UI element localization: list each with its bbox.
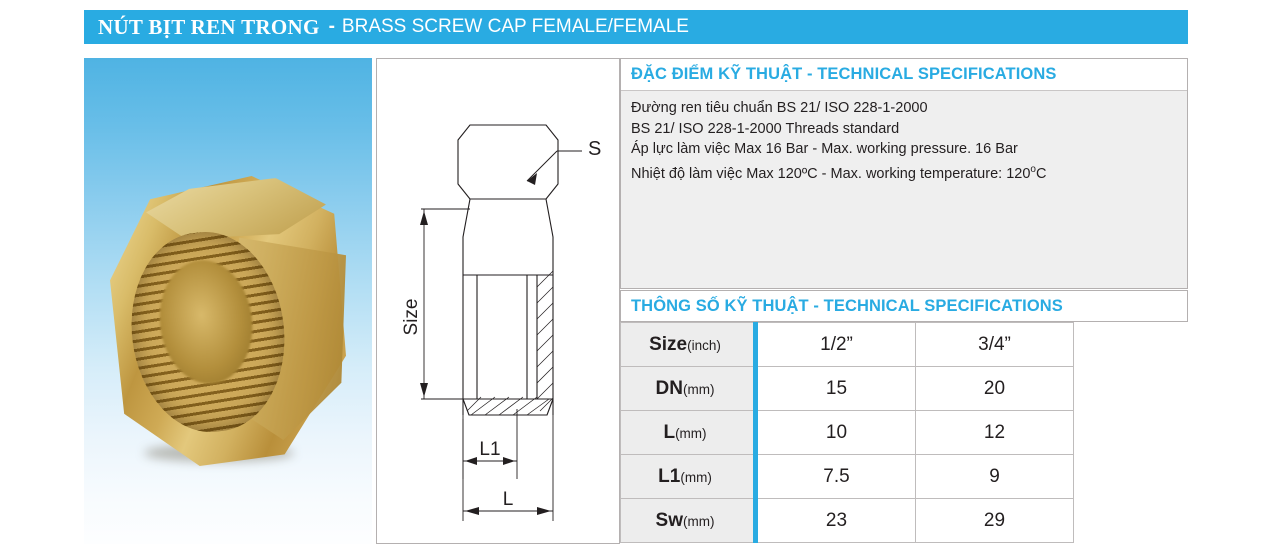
table-row: L1(mm) 7.5 9	[621, 455, 1074, 499]
specifications-table-body: Size(inch) 1/2” 3/4” DN(mm) 15 20 L(mm) …	[621, 323, 1074, 543]
spec-line-thread-standard-vi: Đường ren tiêu chuẩn BS 21/ ISO 228-1-20…	[631, 98, 1177, 119]
cell-dn-col1: 15	[756, 367, 916, 411]
cell-size-col1: 1/2”	[756, 323, 916, 367]
brass-screw-cap-image	[110, 176, 346, 466]
cell-l-col1: 10	[756, 411, 916, 455]
technical-drawing-svg: S Size L1	[377, 59, 619, 543]
row-label-size: Size(inch)	[621, 323, 756, 367]
section-hatch-base	[467, 397, 549, 415]
cell-size-col2: 3/4”	[916, 323, 1074, 367]
product-title-english: BRASS SCREW CAP FEMALE/FEMALE	[342, 16, 689, 38]
arrow-l-left	[465, 507, 479, 515]
table-row: Sw(mm) 23 29	[621, 499, 1074, 543]
row-label-sw: Sw(mm)	[621, 499, 756, 543]
row-label-text: Sw	[656, 510, 683, 531]
product-spec-sheet: NÚT BỊT REN TRONG - BRASS SCREW CAP FEMA…	[0, 0, 1280, 544]
technical-specifications-box: ĐẶC ĐIỂM KỸ THUẬT - TECHNICAL SPECIFICAT…	[620, 58, 1188, 289]
spec-line-working-pressure: Áp lực làm việc Max 16 Bar - Max. workin…	[631, 139, 1177, 160]
table-row: DN(mm) 15 20	[621, 367, 1074, 411]
table-row: Size(inch) 1/2” 3/4”	[621, 323, 1074, 367]
table-row: L(mm) 10 12	[621, 411, 1074, 455]
title-separator: -	[329, 16, 335, 38]
dimension-label-l: L	[503, 489, 514, 510]
spec-line-thread-standard-en: BS 21/ ISO 228-1-2000 Threads standard	[631, 119, 1177, 140]
cell-sw-col1: 23	[756, 499, 916, 543]
row-unit-text: (inch)	[687, 338, 721, 353]
cap-hex-mid-outline	[463, 199, 553, 275]
row-label-text: Size	[649, 334, 687, 355]
spec-temperature-prefix: Nhiệt độ làm việc Max 120ºC - Max. worki…	[631, 165, 1030, 181]
specifications-table-heading-box: THÔNG SỐ KỸ THUẬT - TECHNICAL SPECIFICAT…	[620, 290, 1188, 322]
dimension-label-s: S	[588, 138, 601, 160]
specifications-table-heading: THÔNG SỐ KỸ THUẬT - TECHNICAL SPECIFICAT…	[631, 297, 1063, 316]
cap-hex-top-outline	[458, 125, 558, 199]
row-unit-text: (mm)	[683, 382, 714, 397]
cell-sw-col2: 29	[916, 499, 1074, 543]
spec-line-working-temperature: Nhiệt độ làm việc Max 120ºC - Max. worki…	[631, 160, 1177, 184]
arrow-l-right	[537, 507, 551, 515]
specifications-table: Size(inch) 1/2” 3/4” DN(mm) 15 20 L(mm) …	[620, 322, 1074, 543]
section-hatch-right	[537, 271, 553, 411]
row-unit-text: (mm)	[680, 470, 711, 485]
dimension-label-size: Size	[401, 299, 422, 336]
cell-l1-col1: 7.5	[756, 455, 916, 499]
row-label-text: L	[663, 422, 675, 443]
technical-specifications-heading: ĐẶC ĐIỂM KỸ THUẬT - TECHNICAL SPECIFICAT…	[621, 59, 1187, 91]
arrow-size-bottom	[420, 383, 428, 397]
row-unit-text: (mm)	[683, 514, 714, 529]
row-label-text: DN	[656, 378, 683, 399]
row-unit-text: (mm)	[675, 426, 706, 441]
technical-drawing-panel: S Size L1	[376, 58, 620, 544]
cell-l1-col2: 9	[916, 455, 1074, 499]
row-label-text: L1	[658, 466, 680, 487]
product-title-bar: NÚT BỊT REN TRONG - BRASS SCREW CAP FEMA…	[84, 10, 1188, 44]
row-label-dn: DN(mm)	[621, 367, 756, 411]
arrow-size-top	[420, 211, 428, 225]
row-label-l: L(mm)	[621, 411, 756, 455]
cell-dn-col2: 20	[916, 367, 1074, 411]
row-label-l1: L1(mm)	[621, 455, 756, 499]
spec-temperature-suffix: C	[1036, 165, 1046, 181]
product-title-vietnamese: NÚT BỊT REN TRONG	[98, 15, 320, 40]
arrow-l1-right	[503, 457, 515, 465]
technical-specifications-content: Đường ren tiêu chuẩn BS 21/ ISO 228-1-20…	[621, 91, 1187, 288]
arrow-l1-left	[465, 457, 477, 465]
product-photo-panel	[84, 58, 372, 544]
cell-l-col2: 12	[916, 411, 1074, 455]
dimension-label-l1: L1	[479, 439, 500, 460]
